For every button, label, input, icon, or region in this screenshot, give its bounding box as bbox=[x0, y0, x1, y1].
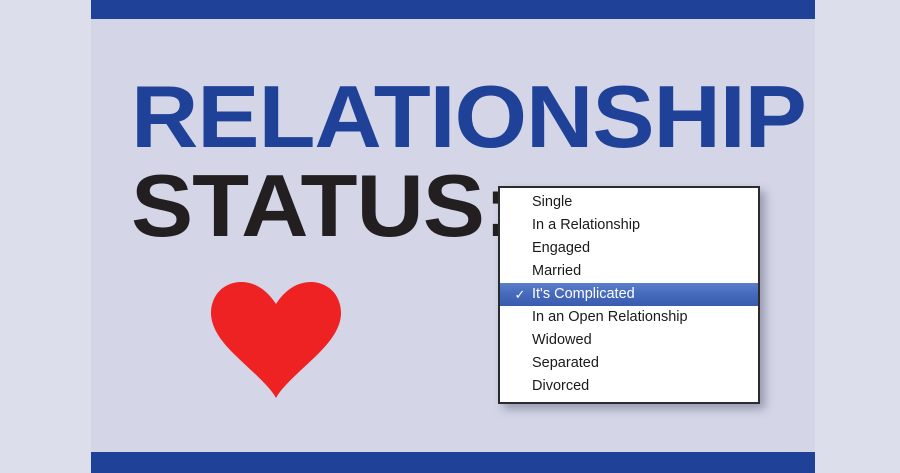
menu-item-label: Single bbox=[532, 194, 572, 210]
menu-item[interactable]: In an Open Relationship bbox=[500, 306, 758, 329]
menu-item-label: In a Relationship bbox=[532, 217, 640, 233]
menu-item-label: Widowed bbox=[532, 332, 592, 348]
top-accent-bar bbox=[91, 0, 815, 19]
headline-line-relationship: RELATIONSHIP bbox=[131, 74, 852, 159]
menu-item-label: Divorced bbox=[532, 378, 589, 394]
relationship-status-dropdown[interactable]: Single In a Relationship Engaged Married… bbox=[498, 186, 760, 404]
menu-item-label: Married bbox=[532, 263, 581, 279]
poster-canvas: RELATIONSHIP STATUS: Single In a Relatio… bbox=[0, 0, 900, 473]
menu-item[interactable]: Single bbox=[500, 191, 758, 214]
menu-item-selected[interactable]: ✓ It's Complicated bbox=[500, 283, 758, 306]
menu-item[interactable]: Divorced bbox=[500, 375, 758, 398]
menu-item-label: Separated bbox=[532, 355, 599, 371]
heart-icon bbox=[211, 281, 341, 399]
menu-item[interactable]: Widowed bbox=[500, 329, 758, 352]
bottom-accent-bar bbox=[91, 452, 815, 473]
menu-item[interactable]: In a Relationship bbox=[500, 214, 758, 237]
menu-item[interactable]: Separated bbox=[500, 352, 758, 375]
menu-item[interactable]: Married bbox=[500, 260, 758, 283]
menu-item-label: It's Complicated bbox=[532, 286, 635, 302]
menu-item-label: Engaged bbox=[532, 240, 590, 256]
check-icon: ✓ bbox=[513, 283, 527, 306]
menu-item-label: In an Open Relationship bbox=[532, 309, 688, 325]
menu-item[interactable]: Engaged bbox=[500, 237, 758, 260]
